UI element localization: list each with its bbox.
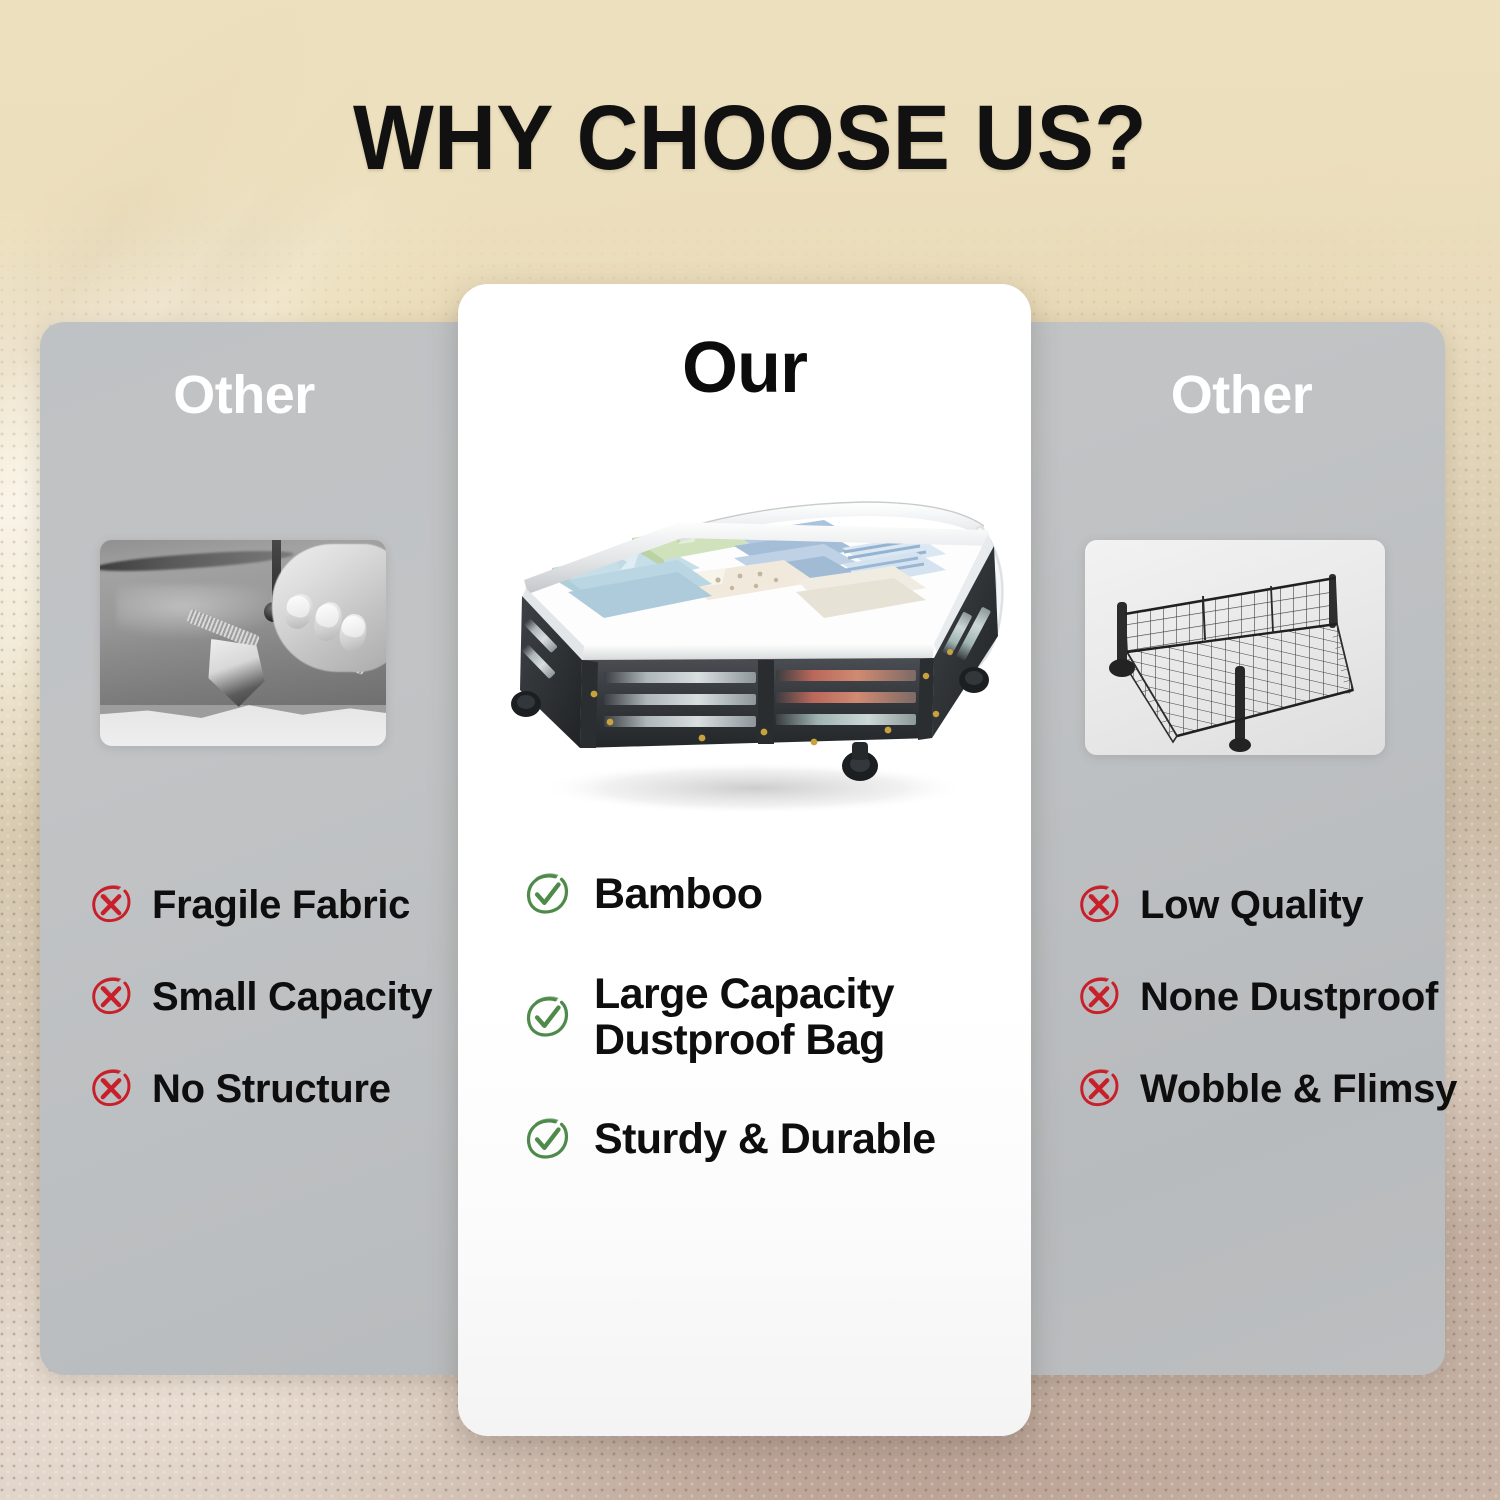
list-item: Fragile Fabric bbox=[88, 882, 450, 928]
list-item: No Structure bbox=[88, 1066, 450, 1112]
cross-circle-icon bbox=[88, 974, 134, 1020]
check-circle-icon bbox=[522, 1115, 572, 1165]
list-item-label: Wobble & Flimsy bbox=[1140, 1068, 1457, 1110]
list-item: Small Capacity bbox=[88, 974, 450, 1020]
list-item-label: Fragile Fabric bbox=[152, 884, 410, 926]
column-other-right: Other bbox=[1028, 322, 1445, 1375]
column-our-center: Our bbox=[458, 284, 1031, 1436]
list-item-label: None Dustproof bbox=[1140, 976, 1438, 1018]
page-title: WHY CHOOSE US? bbox=[53, 92, 1448, 184]
list-item-label: Low Quality bbox=[1140, 884, 1363, 926]
list-item: None Dustproof bbox=[1076, 974, 1439, 1020]
list-item-label-line1: Large Capacity bbox=[594, 970, 894, 1018]
list-item-label-multiline: Large Capacity Dustproof Bag bbox=[594, 972, 894, 1063]
list-item-label: No Structure bbox=[152, 1068, 391, 1110]
list-item: Low Quality bbox=[1076, 882, 1439, 928]
fabric-zipper-photo bbox=[100, 540, 386, 746]
list-item: Large Capacity Dustproof Bag bbox=[522, 972, 1007, 1063]
column-right-title: Other bbox=[1028, 368, 1445, 422]
wire-mesh-basket-photo bbox=[1085, 540, 1385, 755]
column-other-left: Other bbox=[40, 322, 460, 1375]
list-item: Bamboo bbox=[522, 870, 1007, 920]
check-circle-icon bbox=[522, 870, 572, 920]
center-bullet-list: Bamboo Large Capacity Dustproof Bag bbox=[522, 870, 1007, 1165]
list-item-label-line2: Dustproof Bag bbox=[594, 1018, 894, 1064]
list-item: Sturdy & Durable bbox=[522, 1115, 1007, 1165]
check-circle-icon bbox=[522, 993, 572, 1043]
list-item-label: Sturdy & Durable bbox=[594, 1117, 936, 1163]
cross-circle-icon bbox=[1076, 882, 1122, 928]
column-left-title: Other bbox=[40, 368, 460, 422]
list-item-label: Bamboo bbox=[594, 872, 762, 918]
bamboo-storage-box-photo bbox=[464, 476, 1026, 826]
list-item: Wobble & Flimsy bbox=[1076, 1066, 1439, 1112]
list-item-label: Small Capacity bbox=[152, 976, 432, 1018]
cross-circle-icon bbox=[1076, 1066, 1122, 1112]
cross-circle-icon bbox=[88, 1066, 134, 1112]
cross-circle-icon bbox=[88, 882, 134, 928]
left-bullet-list: Fragile Fabric Small Capacity bbox=[40, 882, 460, 1112]
column-center-title: Our bbox=[458, 332, 1031, 404]
infographic-stage: WHY CHOOSE US? Other bbox=[0, 0, 1500, 1500]
right-bullet-list: Low Quality None Dustproof bbox=[1028, 882, 1445, 1112]
cross-circle-icon bbox=[1076, 974, 1122, 1020]
